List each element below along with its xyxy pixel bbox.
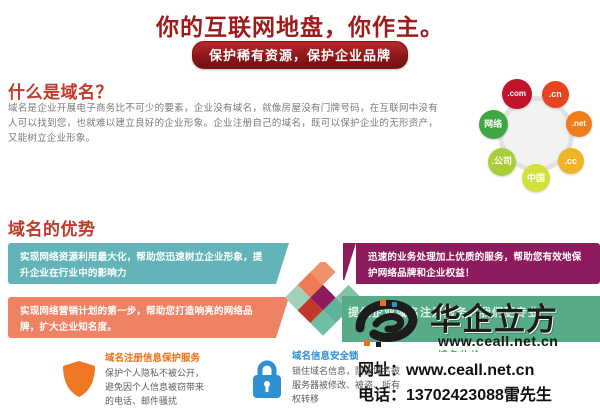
promo-page: 你的互联网地盘，你作主。 保护稀有资源，保护企业品牌 什么是域名？ 域名是企业开…	[0, 0, 600, 416]
feature-domain-privacy-line-3: 的电话、邮件骚扰	[105, 394, 220, 408]
advantage-ribbon-orange: 实现网络营销计划的第一步，帮助您打造响亮的网络品牌，扩大企业知名度。	[8, 297, 276, 338]
lock-icon	[250, 358, 284, 400]
domain-bubble-公司[interactable]: .公司	[488, 148, 516, 176]
advantage-ribbon-teal-text: 实现网络资源利用最大化，帮助您迅速树立企业形象，提升企业在行业中的影响力	[20, 252, 263, 279]
hero-banner: 你的互联网地盘，你作主。 保护稀有资源，保护企业品牌	[0, 0, 600, 70]
feature-domain-privacy-title: 域名注册信息保护服务	[105, 352, 220, 366]
shield-icon	[62, 360, 96, 398]
domain-bubble-net[interactable]: .net	[566, 111, 592, 137]
feature-domain-lock-line-1: 锁住域名信息，防止域名被	[292, 364, 407, 378]
domain-bubble-中国[interactable]: 中国	[522, 164, 550, 192]
domain-bubble-cc[interactable]: .cc	[558, 148, 584, 174]
section-title-what-is-domain: 什么是域名？	[8, 78, 113, 103]
brand-e-logo-icon	[352, 298, 426, 350]
brand-url: www.ceall.net.cn	[438, 333, 558, 349]
advantage-ribbon-purple: 迅速的业务处理加上优质的服务，帮助您有效地保护网络品牌和企业权益！	[356, 243, 600, 284]
advantage-ribbon-orange-text: 实现网络营销计划的第一步，帮助您打造响亮的网络品牌，扩大企业知名度。	[20, 306, 253, 333]
advantage-ribbon-teal: 实现网络资源利用最大化，帮助您迅速树立企业形象，提升企业在行业中的影响力	[8, 243, 276, 284]
brand-banner: 提供企业域名注册服务，我们更专业 华企立方 www.ceall.net.cn 域…	[342, 296, 600, 352]
contact-website-value: www.ceall.net.cn	[406, 362, 534, 379]
feature-domain-privacy-line-2: 避免因个人信息被窃带来	[105, 380, 220, 394]
feature-domain-privacy: 域名注册信息保护服务 保护个人隐私不被公开， 避免因个人信息被窃带来 的电话、邮…	[105, 352, 220, 408]
feature-domain-lock-line-3: 权转移	[292, 392, 407, 406]
domain-bubble-com[interactable]: .com	[502, 79, 532, 109]
feature-domain-lock-line-2: 服务器被修改、被盗、所有	[292, 378, 407, 392]
hero-subtitle-pill: 保护稀有资源，保护企业品牌	[192, 41, 408, 69]
feature-domain-lock: 域名信息安全锁 锁住域名信息，防止域名被 服务器被修改、被盗、所有 权转移	[292, 350, 407, 406]
domain-suffix-ring: .com.cn.net.cc中国.公司网络	[480, 78, 592, 190]
feature-domain-privacy-line-1: 保护个人隐私不被公开，	[105, 366, 220, 380]
brand-subtitle: 域名体检	[438, 348, 482, 352]
page-title: 你的互联网地盘，你作主。	[0, 8, 600, 42]
contact-person: 雷先生	[504, 387, 552, 404]
domain-bubble-cn[interactable]: .cn	[542, 81, 569, 108]
feature-domain-lock-title: 域名信息安全锁	[292, 350, 407, 364]
domain-bubble-网络[interactable]: 网络	[479, 110, 508, 139]
section-title-advantages: 域名的优势	[8, 215, 96, 240]
section-body-what-is-domain: 域名是企业开展电子商务比不可少的要素，企业没有域名，就像房屋没有门牌号码，在互联…	[8, 101, 438, 146]
advantage-ribbon-purple-text: 迅速的业务处理加上优质的服务，帮助您有效地保护网络品牌和企业权益！	[368, 252, 581, 279]
contact-phone-value: 13702423088	[406, 387, 504, 404]
